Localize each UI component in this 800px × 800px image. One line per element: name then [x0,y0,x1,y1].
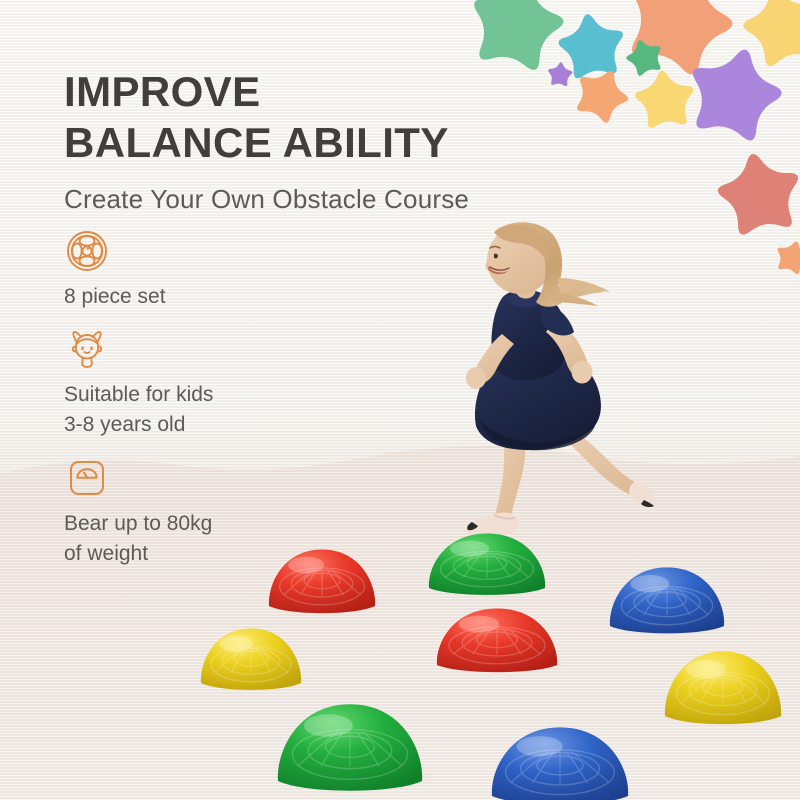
headline-block: IMPROVE BALANCE ABILITY Create Your Own … [64,66,534,215]
stone-green-bottom [278,704,435,793]
stone-highlight [516,736,562,756]
stone-highlight [631,575,670,592]
stone-yellow-left [201,628,310,691]
subtitle: Create Your Own Obstacle Course [64,184,534,215]
feature-piece-count-label: 8 piece set [64,282,364,312]
stepping-stones-group [0,500,800,800]
title-line-1: IMPROVE [64,68,261,115]
feature-age-range: Suitable for kids 3-8 years old [64,326,364,440]
stone-green-center [429,533,556,596]
title-line-2: BALANCE ABILITY [64,119,449,166]
stone-highlight [459,616,500,633]
stone-highlight [219,635,253,651]
page-title: IMPROVE BALANCE ABILITY [64,66,534,168]
product-banner: IMPROVE BALANCE ABILITY Create Your Own … [0,0,800,800]
stone-red-upper-left [269,549,385,615]
weight-scale-icon [64,455,110,501]
feature-piece-count: 8 piece set [64,228,364,312]
stone-blue-bottom [492,727,640,800]
stone-highlight [288,557,324,574]
stone-highlight [304,714,353,737]
stone-blue-right [610,567,734,635]
child-face-icon [64,326,110,372]
stone-yellow-right [665,651,792,726]
feature-age-range-label: Suitable for kids 3-8 years old [64,380,364,440]
stepping-stone-icon [64,228,110,274]
stone-highlight [450,540,489,556]
stone-red-center [437,608,568,674]
stone-highlight [686,660,725,679]
